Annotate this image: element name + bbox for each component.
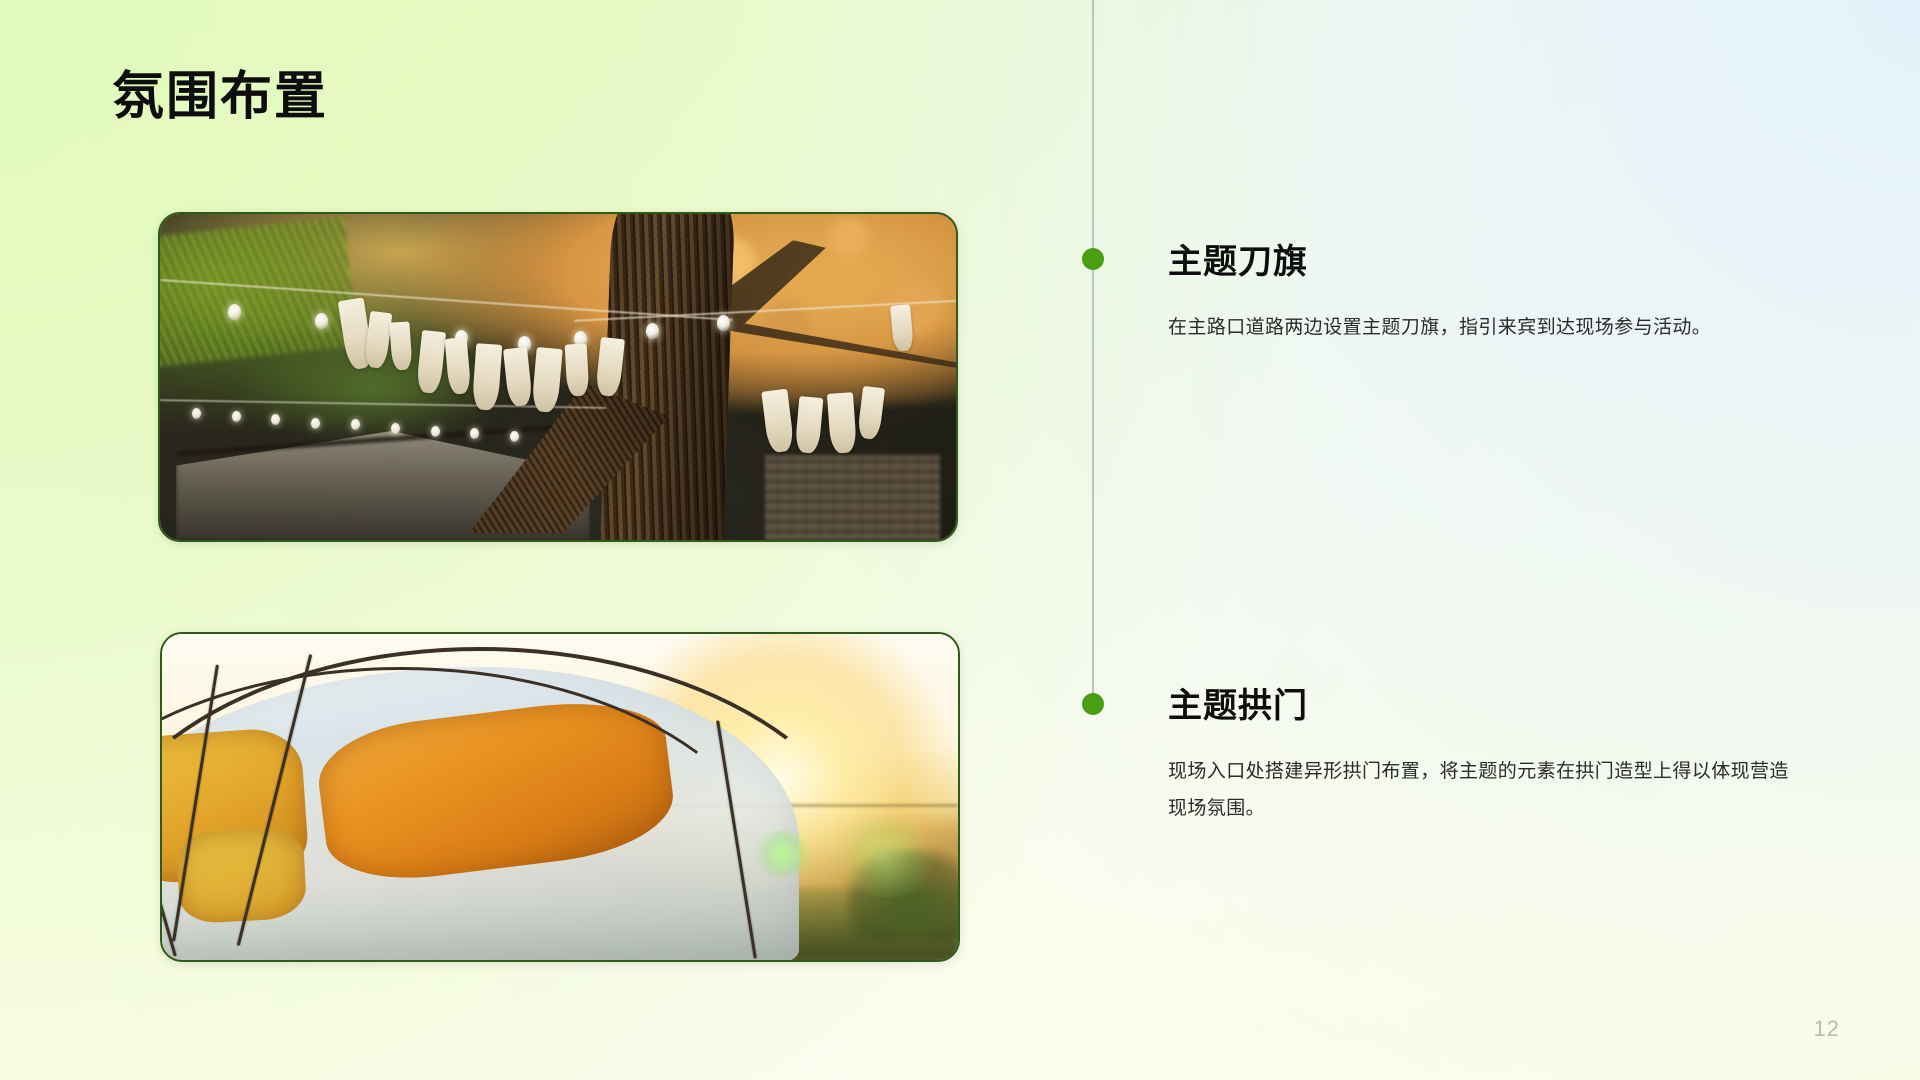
section-1-heading: 主题刀旗 (1168, 234, 1808, 283)
light-bulb-icon (391, 423, 400, 434)
garland-tree-photo-inner (160, 214, 956, 540)
light-bulb-icon (510, 431, 519, 442)
light-bulb-icon (431, 426, 440, 437)
light-bulb-icon (192, 408, 201, 419)
light-bulb-icon (228, 304, 241, 320)
lens-flare (831, 817, 941, 897)
content-section-1: 主题刀旗 在主路口道路两边设置主题刀旗，指引来宾到达现场参与活动。 (1168, 234, 1808, 346)
sunset-tent-photo-inner (162, 634, 958, 960)
page-number: 12 (1814, 1016, 1840, 1042)
sunset-tent-photo (160, 632, 960, 962)
timeline-bullet-dot-1 (1082, 248, 1104, 270)
timeline-bullet-dot-2 (1082, 693, 1104, 715)
timeline-connector-line (1092, 0, 1094, 705)
fabric-garland-strip (565, 344, 590, 397)
light-bulb-icon (232, 411, 241, 422)
section-2-body: 现场入口处搭建异形拱门布置，将主题的元素在拱门造型上得以体现营造现场氛围。 (1168, 753, 1808, 827)
stone-wall-shape (765, 455, 940, 540)
section-2-heading: 主题拱门 (1168, 678, 1808, 727)
garland-tree-photo (158, 212, 958, 542)
light-bulb-icon (311, 418, 320, 429)
section-1-body: 在主路口道路两边设置主题刀旗，指引来宾到达现场参与活动。 (1168, 309, 1808, 346)
content-section-2: 主题拱门 现场入口处搭建异形拱门布置，将主题的元素在拱门造型上得以体现营造现场氛… (1168, 678, 1808, 827)
light-bulb-icon (646, 323, 659, 339)
lens-flare (751, 830, 815, 878)
light-bulb-icon (717, 315, 730, 331)
page-title: 氛围布置 (112, 66, 328, 128)
